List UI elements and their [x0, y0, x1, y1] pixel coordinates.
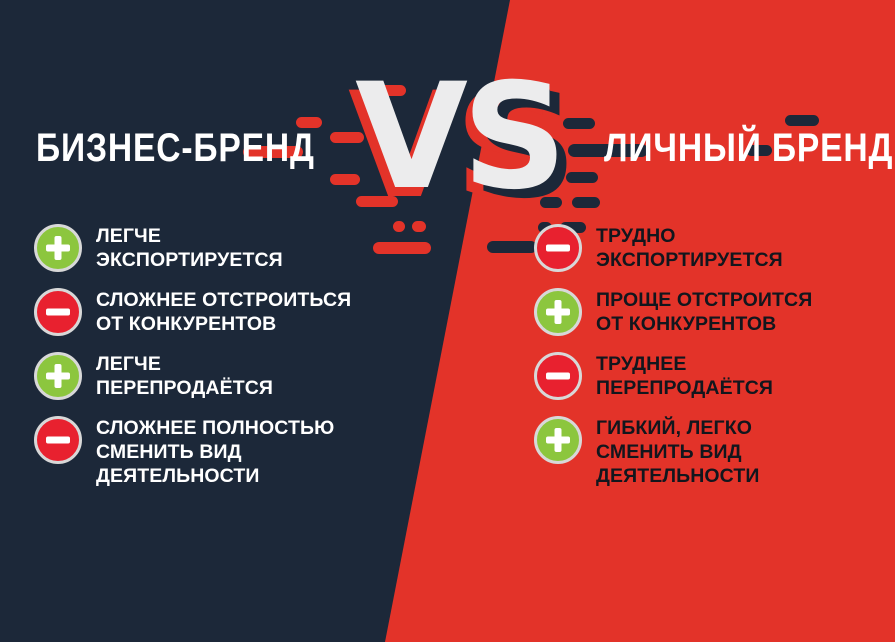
plus-icon: [534, 416, 582, 464]
right-feature-list: ТРУДНО ЭКСПОРТИРУЕТСЯ ПРОЩЕ ОТСТРОИТСЯ О…: [534, 222, 884, 502]
list-item-label: СЛОЖНЕЕ ОТСТРОИТЬСЯ ОТ КОНКУРЕНТОВ: [96, 286, 351, 336]
minus-icon: [34, 288, 82, 336]
list-item-label: СЛОЖНЕЕ ПОЛНОСТЬЮ СМЕНИТЬ ВИД ДЕЯТЕЛЬНОС…: [96, 414, 334, 488]
list-item: ПРОЩЕ ОТСТРОИТСЯ ОТ КОНКУРЕНТОВ: [534, 286, 884, 336]
left-feature-list: ЛЕГЧЕ ЭКСПОРТИРУЕТСЯ СЛОЖНЕЕ ОТСТРОИТЬСЯ…: [34, 222, 384, 502]
list-item-label: ЛЕГЧЕ ЭКСПОРТИРУЕТСЯ: [96, 222, 283, 272]
vs-infographic: VS VS VS БИЗНЕС-БРЕНД ЛИЧНЫЙ БРЕНД ЛЕГЧЕ…: [0, 0, 895, 642]
list-item: ЛЕГЧЕ ПЕРЕПРОДАЁТСЯ: [34, 350, 384, 400]
vs-label: VS: [355, 62, 561, 212]
list-item: СЛОЖНЕЕ ОТСТРОИТЬСЯ ОТ КОНКУРЕНТОВ: [34, 286, 384, 336]
list-item-label: ЛЕГЧЕ ПЕРЕПРОДАЁТСЯ: [96, 350, 273, 400]
vs-wordmark: VS VS VS: [355, 62, 585, 212]
right-heading: ЛИЧНЫЙ БРЕНД: [604, 126, 893, 171]
list-item-label: ТРУДНО ЭКСПОРТИРУЕТСЯ: [596, 222, 783, 272]
list-item-label: ТРУДНЕЕ ПЕРЕПРОДАЁТСЯ: [596, 350, 773, 400]
plus-icon: [34, 352, 82, 400]
dash-navy: [487, 241, 537, 253]
list-item: ЛЕГЧЕ ЭКСПОРТИРУЕТСЯ: [34, 222, 384, 272]
dash-navy: [785, 115, 819, 126]
minus-icon: [34, 416, 82, 464]
list-item-label: ПРОЩЕ ОТСТРОИТСЯ ОТ КОНКУРЕНТОВ: [596, 286, 812, 336]
plus-icon: [34, 224, 82, 272]
left-heading: БИЗНЕС-БРЕНД: [36, 126, 315, 171]
list-item: СЛОЖНЕЕ ПОЛНОСТЬЮ СМЕНИТЬ ВИД ДЕЯТЕЛЬНОС…: [34, 414, 384, 488]
minus-icon: [534, 352, 582, 400]
plus-icon: [534, 288, 582, 336]
list-item: ГИБКИЙ, ЛЕГКО СМЕНИТЬ ВИД ДЕЯТЕЛЬНОСТИ: [534, 414, 884, 488]
list-item-label: ГИБКИЙ, ЛЕГКО СМЕНИТЬ ВИД ДЕЯТЕЛЬНОСТИ: [596, 414, 760, 488]
minus-icon: [534, 224, 582, 272]
list-item: ТРУДНЕЕ ПЕРЕПРОДАЁТСЯ: [534, 350, 884, 400]
list-item: ТРУДНО ЭКСПОРТИРУЕТСЯ: [534, 222, 884, 272]
